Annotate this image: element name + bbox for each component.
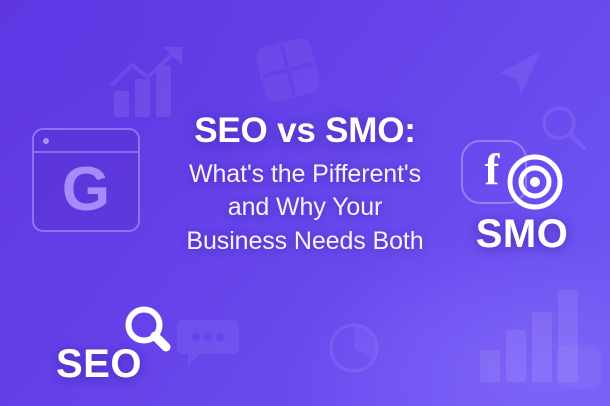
seo-vs-smo-banner: G SEO SEO vs SMO: What's the Pifferent's… xyxy=(0,0,610,406)
page-title: SEO vs SMO: xyxy=(152,112,458,149)
bar-chart-icon xyxy=(478,290,584,386)
browser-window-icon: G xyxy=(32,128,140,232)
subtitle-line-2: and Why Your xyxy=(152,191,458,224)
google-g-letter: G xyxy=(34,150,138,230)
chat-bubble-icon xyxy=(176,316,240,372)
smo-cluster: f SMO xyxy=(452,134,592,274)
send-arrow-icon xyxy=(494,47,544,97)
headline-block: SEO vs SMO: What's the Pifferent's and W… xyxy=(152,112,458,258)
rounded-square-icon xyxy=(556,344,602,390)
smo-label: SMO xyxy=(444,212,600,257)
seo-label: SEO xyxy=(24,342,174,387)
subtitle-line-1: What's the Pifferent's xyxy=(152,158,458,191)
subtitle-line-3: Business Needs Both xyxy=(152,225,458,258)
pie-chart-icon xyxy=(328,322,380,374)
browser-dot-icon xyxy=(43,138,49,144)
grid-window-icon xyxy=(252,34,325,107)
bar-chart-growth-icon xyxy=(108,45,192,121)
target-icon xyxy=(507,154,563,215)
